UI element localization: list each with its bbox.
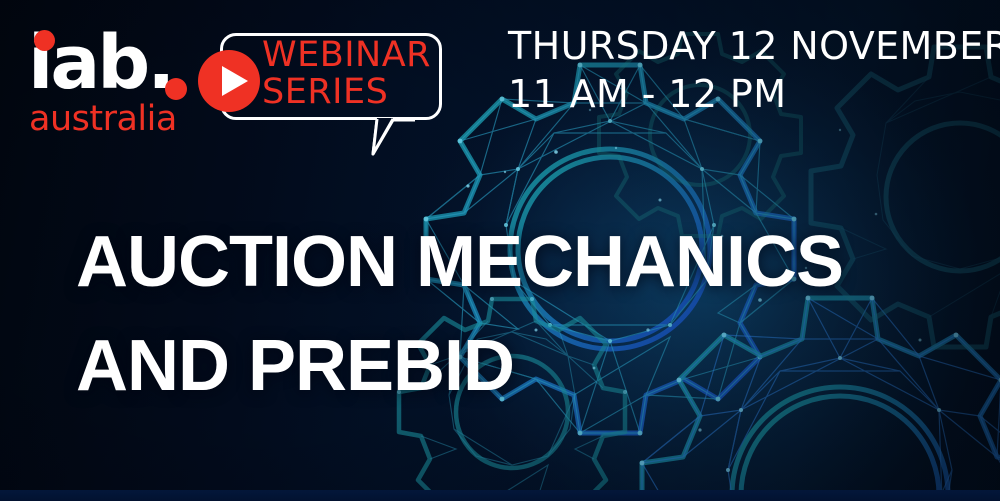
webinar-series-badge: WEBINAR SERIES xyxy=(188,28,458,163)
speech-bubble-tail-icon xyxy=(371,118,417,156)
play-icon[interactable] xyxy=(198,50,260,112)
webinar-label-line2: SERIES xyxy=(262,74,452,111)
logo-subtitle: australia xyxy=(29,102,177,137)
iab-australia-logo[interactable]: iab. australia xyxy=(28,22,208,142)
logo-i-dot-icon xyxy=(34,30,55,51)
event-date: THURSDAY 12 NOVEMBER xyxy=(508,22,1000,70)
bottom-accent-band xyxy=(0,490,1000,501)
page-title: AUCTION MECHANICS AND PREBID xyxy=(76,210,843,418)
headline-line2: AND PREBID xyxy=(76,314,843,418)
headline-line1: AUCTION MECHANICS xyxy=(76,210,843,314)
logo-period-dot-icon xyxy=(165,78,187,100)
play-triangle-icon xyxy=(222,66,248,96)
schedule-block: THURSDAY 12 NOVEMBER 11 AM - 12 PM xyxy=(508,22,1000,118)
webinar-series-label: WEBINAR SERIES xyxy=(262,37,452,111)
event-time: 11 AM - 12 PM xyxy=(508,70,1000,118)
webinar-promo-banner: iab. australia WEBINAR SERIES THURSDAY 1… xyxy=(0,0,1000,501)
webinar-label-line1: WEBINAR xyxy=(262,37,452,74)
